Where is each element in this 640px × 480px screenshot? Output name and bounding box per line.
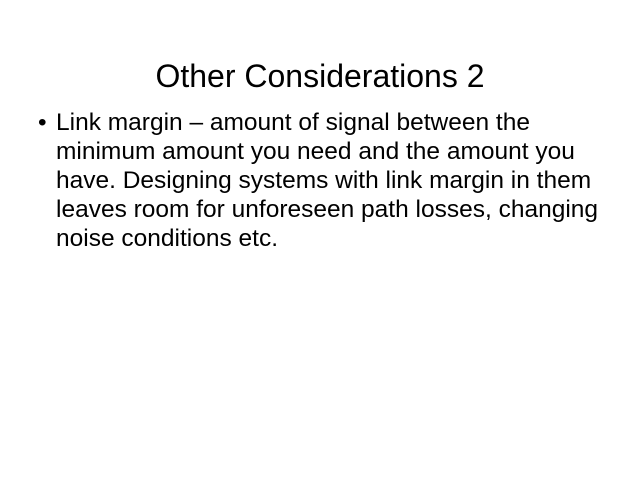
bullet-dot-icon: • <box>38 108 47 137</box>
page-title: Other Considerations 2 <box>48 57 592 95</box>
list-item: • Link margin – amount of signal between… <box>30 108 620 253</box>
slide-content-body: • Link margin – amount of signal between… <box>30 108 620 253</box>
presentation-slide: Other Considerations 2 • Link margin – a… <box>0 0 640 480</box>
list-item-text: Link margin – amount of signal between t… <box>56 108 620 253</box>
bullet-list: • Link margin – amount of signal between… <box>30 108 620 253</box>
